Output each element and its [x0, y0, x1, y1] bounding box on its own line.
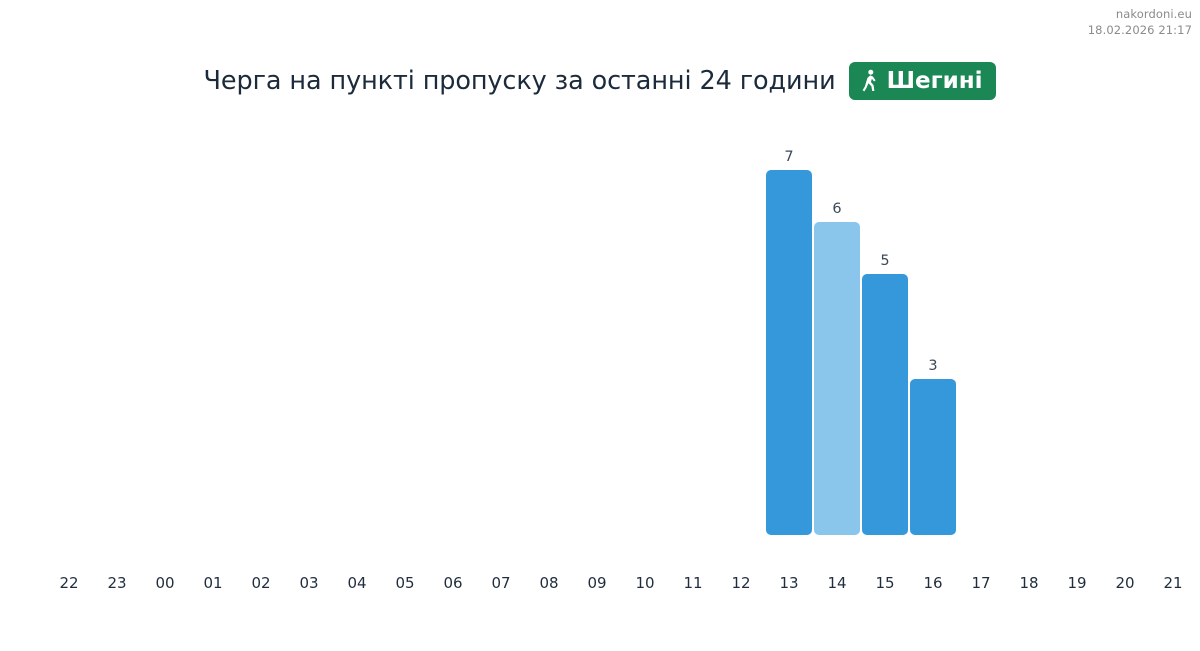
x-axis-tick-19: 19 — [1054, 570, 1100, 596]
x-axis-tick-21: 21 — [1150, 570, 1196, 596]
bar-14[interactable]: 6 — [814, 222, 860, 535]
bar-15[interactable]: 5 — [862, 274, 908, 535]
x-axis-tick-00: 00 — [142, 570, 188, 596]
x-axis-tick-08: 08 — [526, 570, 572, 596]
x-axis: 2223000102030405060708091011121314151617… — [0, 570, 1200, 596]
x-axis-tick-16: 16 — [910, 570, 956, 596]
bar-rect[interactable] — [814, 222, 860, 535]
x-axis-tick-13: 13 — [766, 570, 812, 596]
x-axis-tick-12: 12 — [718, 570, 764, 596]
bar-value-label: 7 — [766, 150, 812, 165]
bar-16[interactable]: 3 — [910, 379, 956, 535]
x-axis-tick-23: 23 — [94, 570, 140, 596]
x-axis-tick-04: 04 — [334, 570, 380, 596]
x-axis-tick-09: 09 — [574, 570, 620, 596]
x-axis-tick-10: 10 — [622, 570, 668, 596]
x-axis-tick-15: 15 — [862, 570, 908, 596]
x-axis-tick-01: 01 — [190, 570, 236, 596]
x-axis-tick-03: 03 — [286, 570, 332, 596]
x-axis-tick-07: 07 — [478, 570, 524, 596]
bar-chart-plot-area: 7653 — [0, 0, 1200, 651]
x-axis-tick-17: 17 — [958, 570, 1004, 596]
bar-value-label: 5 — [862, 254, 908, 269]
x-axis-tick-05: 05 — [382, 570, 428, 596]
x-axis-tick-02: 02 — [238, 570, 284, 596]
bar-rect[interactable] — [766, 170, 812, 535]
bar-rect[interactable] — [862, 274, 908, 535]
x-axis-tick-20: 20 — [1102, 570, 1148, 596]
x-axis-tick-18: 18 — [1006, 570, 1052, 596]
bar-value-label: 3 — [910, 359, 956, 374]
bar-rect[interactable] — [910, 379, 956, 535]
bar-13[interactable]: 7 — [766, 170, 812, 535]
x-axis-tick-11: 11 — [670, 570, 716, 596]
x-axis-tick-22: 22 — [46, 570, 92, 596]
x-axis-tick-06: 06 — [430, 570, 476, 596]
x-axis-tick-14: 14 — [814, 570, 860, 596]
bar-value-label: 6 — [814, 202, 860, 217]
